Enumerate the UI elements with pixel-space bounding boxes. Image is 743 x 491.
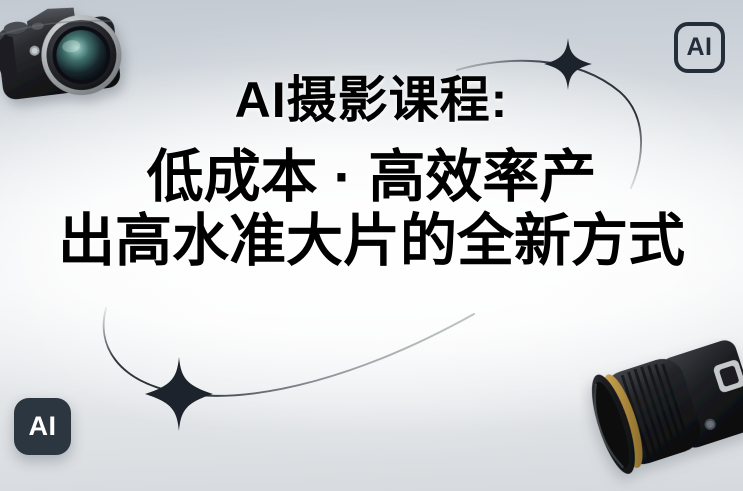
title-line-1: AI摄影课程: bbox=[0, 72, 743, 128]
ai-badge-outline[interactable]: AI bbox=[674, 22, 725, 73]
sparkle-bottom-icon bbox=[143, 355, 215, 438]
ai-badge-filled-label: AI bbox=[29, 411, 57, 442]
poster-canvas: AI AI摄影课程: 低成本 · 高效率产 出高水准大片的全新方式 bbox=[0, 0, 743, 491]
poster-title-block: AI摄影课程: 低成本 · 高效率产 出高水准大片的全新方式 bbox=[0, 72, 743, 272]
ai-badge-outline-label: AI bbox=[687, 33, 713, 62]
ai-badge-filled[interactable]: AI bbox=[14, 398, 71, 455]
dslr-camera-image bbox=[580, 338, 743, 491]
swoosh-bottom-decoration bbox=[70, 292, 490, 427]
title-line-3: 出高水准大片的全新方式 bbox=[0, 210, 743, 272]
title-line-2: 低成本 · 高效率产 bbox=[0, 146, 743, 208]
